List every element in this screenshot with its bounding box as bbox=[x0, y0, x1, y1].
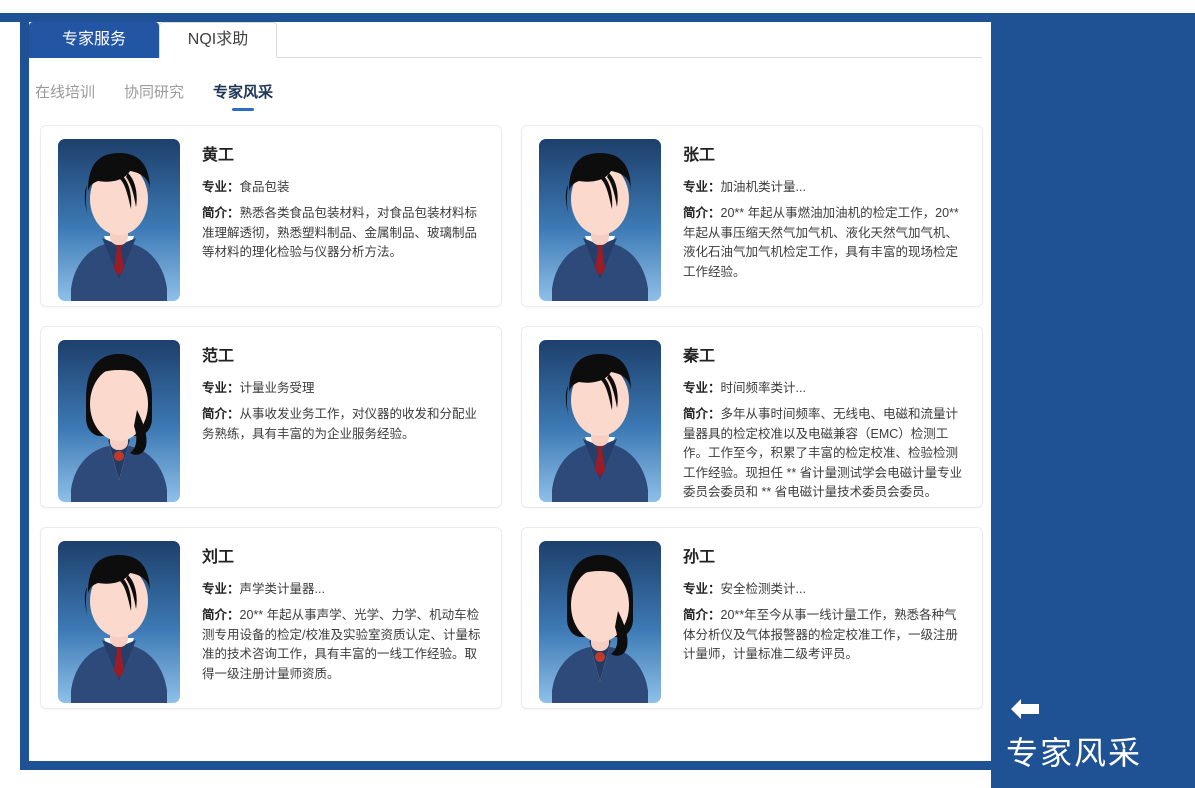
major-label: 专业： bbox=[202, 582, 240, 596]
avatar bbox=[539, 139, 661, 301]
subtab-label: 专家风采 bbox=[213, 84, 273, 101]
avatar bbox=[58, 139, 180, 301]
avatar bbox=[539, 541, 661, 703]
bio-label: 简介： bbox=[683, 608, 721, 622]
side-panel: 专家风采 bbox=[991, 13, 1195, 788]
major-value: 计量业务受理 bbox=[240, 381, 315, 395]
expert-bio-row: 简介：20**年至今从事一线计量工作，熟悉各种气体分析仪及气体报警器的检定校准工… bbox=[683, 606, 968, 665]
subtab-label: 在线培训 bbox=[35, 84, 95, 101]
expert-card[interactable]: 范工专业：计量业务受理简介：从事收发业务工作，对仪器的收发和分配业务熟练，具有丰… bbox=[40, 326, 502, 508]
expert-card[interactable]: 刘工专业：声学类计量器...简介：20** 年起从事声学、光学、力学、机动车检测… bbox=[40, 527, 502, 709]
avatar bbox=[539, 340, 661, 502]
major-value: 食品包装 bbox=[240, 180, 290, 194]
bio-value: 多年从事时间频率、无线电、电磁和流量计量器具的检定校准以及电磁兼容（EMC）检测… bbox=[683, 407, 962, 499]
expert-card[interactable]: 孙工专业：安全检测类计...简介：20**年至今从事一线计量工作，熟悉各种气体分… bbox=[521, 527, 983, 709]
frame-left-bar bbox=[20, 13, 29, 770]
bio-value: 20** 年起从事燃油加油机的检定工作，20**年起从事压缩天然气加气机、液化天… bbox=[683, 206, 959, 279]
expert-info: 秦工专业：时间频率类计...简介：多年从事时间频率、无线电、电磁和流量计量器具的… bbox=[683, 340, 968, 494]
expert-info: 范工专业：计量业务受理简介：从事收发业务工作，对仪器的收发和分配业务熟练，具有丰… bbox=[202, 340, 487, 494]
expert-major-row: 专业：时间频率类计... bbox=[683, 379, 968, 398]
expert-card[interactable]: 秦工专业：时间频率类计...简介：多年从事时间频率、无线电、电磁和流量计量器具的… bbox=[521, 326, 983, 508]
major-label: 专业： bbox=[202, 180, 240, 194]
expert-bio-row: 简介：20** 年起从事燃油加油机的检定工作，20**年起从事压缩天然气加气机、… bbox=[683, 204, 968, 282]
bio-label: 简介： bbox=[683, 206, 721, 220]
expert-bio-row: 简介：20** 年起从事声学、光学、力学、机动车检测专用设备的检定/校准及实验室… bbox=[202, 606, 487, 684]
major-value: 安全检测类计... bbox=[721, 582, 806, 596]
expert-major-row: 专业：加油机类计量... bbox=[683, 178, 968, 197]
expert-card[interactable]: 黄工专业：食品包装简介：熟悉各类食品包装材料，对食品包装材料标准理解透彻，熟悉塑… bbox=[40, 125, 502, 307]
tab-expert-service[interactable]: 专家服务 bbox=[29, 22, 159, 58]
bio-label: 简介： bbox=[683, 407, 721, 421]
subtab-expert-showcase[interactable]: 专家风采 bbox=[213, 81, 273, 111]
major-label: 专业： bbox=[683, 180, 721, 194]
expert-name: 秦工 bbox=[683, 348, 968, 366]
arrow-left-icon[interactable] bbox=[1008, 696, 1042, 722]
expert-name: 张工 bbox=[683, 147, 968, 165]
bio-value: 20** 年起从事声学、光学、力学、机动车检测专用设备的检定/校准及实验室资质认… bbox=[202, 608, 480, 681]
expert-major-row: 专业：食品包装 bbox=[202, 178, 487, 197]
frame-bottom-bar bbox=[20, 761, 991, 770]
bio-value: 从事收发业务工作，对仪器的收发和分配业务熟练，具有丰富的为企业服务经验。 bbox=[202, 407, 477, 441]
primary-tab-bar: 专家服务 NQI求助 bbox=[29, 22, 991, 58]
expert-major-row: 专业：计量业务受理 bbox=[202, 379, 487, 398]
major-value: 时间频率类计... bbox=[721, 381, 806, 395]
expert-info: 刘工专业：声学类计量器...简介：20** 年起从事声学、光学、力学、机动车检测… bbox=[202, 541, 487, 695]
expert-name: 范工 bbox=[202, 348, 487, 366]
tab-nqi-help[interactable]: NQI求助 bbox=[159, 22, 277, 58]
expert-bio-row: 简介：多年从事时间频率、无线电、电磁和流量计量器具的检定校准以及电磁兼容（EMC… bbox=[683, 405, 968, 503]
tab-label: 专家服务 bbox=[62, 31, 126, 48]
expert-info: 黄工专业：食品包装简介：熟悉各类食品包装材料，对食品包装材料标准理解透彻，熟悉塑… bbox=[202, 139, 487, 293]
screen: 专家服务 NQI求助 在线培训 协同研究 专家风采 黄工专业：食品包装简介：熟悉… bbox=[0, 0, 1195, 788]
subtab-collaborative-research[interactable]: 协同研究 bbox=[124, 81, 184, 111]
major-label: 专业： bbox=[683, 381, 721, 395]
bio-value: 熟悉各类食品包装材料，对食品包装材料标准理解透彻，熟悉塑料制品、金属制品、玻璃制… bbox=[202, 206, 477, 259]
bio-label: 简介： bbox=[202, 206, 240, 220]
expert-info: 孙工专业：安全检测类计...简介：20**年至今从事一线计量工作，熟悉各种气体分… bbox=[683, 541, 968, 695]
expert-card-grid: 黄工专业：食品包装简介：熟悉各类食品包装材料，对食品包装材料标准理解透彻，熟悉塑… bbox=[29, 111, 991, 709]
frame-top-bar bbox=[0, 13, 991, 22]
subtab-online-training[interactable]: 在线培训 bbox=[35, 81, 95, 111]
avatar bbox=[58, 340, 180, 502]
bio-label: 简介： bbox=[202, 608, 240, 622]
bio-label: 简介： bbox=[202, 407, 240, 421]
tab-label: NQI求助 bbox=[188, 31, 248, 48]
bio-value: 20**年至今从事一线计量工作，熟悉各种气体分析仪及气体报警器的检定校准工作，一… bbox=[683, 608, 958, 661]
expert-major-row: 专业：声学类计量器... bbox=[202, 580, 487, 599]
expert-bio-row: 简介：从事收发业务工作，对仪器的收发和分配业务熟练，具有丰富的为企业服务经验。 bbox=[202, 405, 487, 444]
secondary-tab-bar: 在线培训 协同研究 专家风采 bbox=[29, 58, 991, 104]
expert-major-row: 专业：安全检测类计... bbox=[683, 580, 968, 599]
expert-name: 刘工 bbox=[202, 549, 487, 567]
expert-card[interactable]: 张工专业：加油机类计量...简介：20** 年起从事燃油加油机的检定工作，20*… bbox=[521, 125, 983, 307]
expert-bio-row: 简介：熟悉各类食品包装材料，对食品包装材料标准理解透彻，熟悉塑料制品、金属制品、… bbox=[202, 204, 487, 263]
major-label: 专业： bbox=[683, 582, 721, 596]
avatar bbox=[58, 541, 180, 703]
major-value: 声学类计量器... bbox=[240, 582, 325, 596]
major-value: 加油机类计量... bbox=[721, 180, 806, 194]
expert-name: 黄工 bbox=[202, 147, 487, 165]
major-label: 专业： bbox=[202, 381, 240, 395]
side-panel-label: 专家风采 bbox=[1006, 733, 1142, 773]
subtab-label: 协同研究 bbox=[124, 84, 184, 101]
main-content: 专家服务 NQI求助 在线培训 协同研究 专家风采 黄工专业：食品包装简介：熟悉… bbox=[29, 22, 991, 761]
expert-info: 张工专业：加油机类计量...简介：20** 年起从事燃油加油机的检定工作，20*… bbox=[683, 139, 968, 293]
expert-name: 孙工 bbox=[683, 549, 968, 567]
